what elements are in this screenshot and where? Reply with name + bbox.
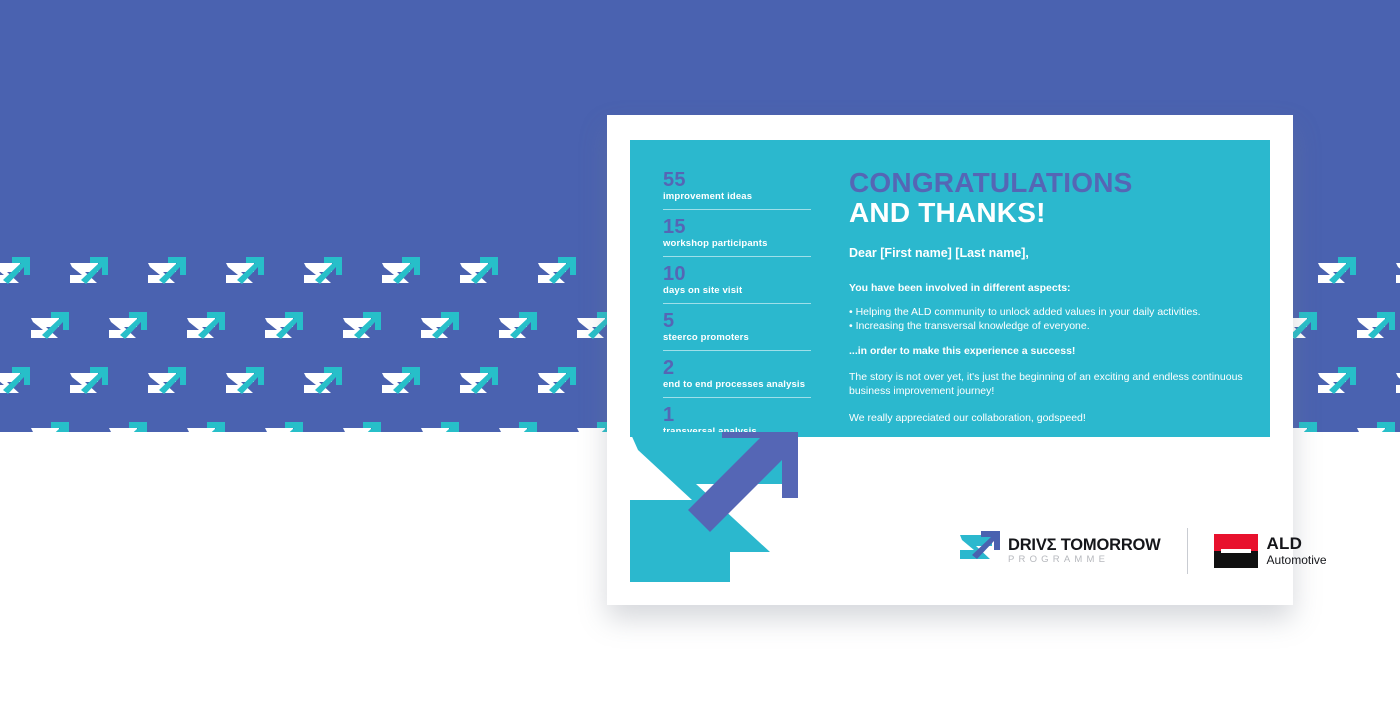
- sigma-arrow-icon: [224, 365, 270, 411]
- list-item: Helping the ALD community to unlock adde…: [849, 305, 1246, 319]
- sigma-arrow-icon: [458, 255, 504, 301]
- drive-tomorrow-wordmark: DRIVΣ TOMORROW PROGRAMME: [1008, 536, 1161, 566]
- sigma-arrow-icon: [224, 255, 270, 301]
- sigma-arrow-icon: [29, 310, 75, 356]
- sigma-arrow-icon: [419, 310, 465, 356]
- logo-row: DRIVΣ TOMORROW PROGRAMME ALD Automotive: [958, 528, 1327, 574]
- salutation-text: Dear [First name] [Last name],: [849, 246, 1246, 260]
- page-title: CONGRATULATIONS AND THANKS!: [849, 168, 1246, 228]
- stat-label: workshop participants: [663, 237, 811, 256]
- sigma-arrow-icon: [263, 420, 309, 432]
- sigma-arrow-icon: [341, 310, 387, 356]
- sigma-arrow-icon: [0, 255, 36, 301]
- logo-divider: [1187, 528, 1188, 574]
- teal-content-panel: 55improvement ideas15workshop participan…: [630, 140, 1270, 437]
- sigma-arrow-icon: [185, 420, 231, 432]
- stat-value: 10: [663, 264, 811, 284]
- slide-canvas: 55improvement ideas15workshop participan…: [0, 0, 1400, 707]
- sigma-arrow-icon: [107, 310, 153, 356]
- sigma-arrow-icon: [958, 529, 1002, 574]
- sigma-arrow-icon: [146, 255, 192, 301]
- sigma-arrow-icon: [1394, 365, 1400, 411]
- stat-label: days on site visit: [663, 284, 811, 303]
- sigma-arrow-icon: [0, 365, 36, 411]
- ald-square-icon: [1214, 534, 1258, 568]
- ald-wordmark: ALD Automotive: [1267, 535, 1327, 567]
- headline-line-1: CONGRATULATIONS: [849, 168, 1246, 198]
- ald-name: ALD: [1267, 535, 1327, 553]
- sigma-arrow-icon: [68, 255, 114, 301]
- lead-text: You have been involved in different aspe…: [849, 282, 1246, 294]
- sigma-arrow-icon: [536, 365, 582, 411]
- ald-automotive-logo: ALD Automotive: [1214, 534, 1327, 568]
- sigma-arrow-icon: [497, 310, 543, 356]
- stat-divider: [663, 303, 811, 304]
- stat-value: 15: [663, 217, 811, 237]
- sigma-arrow-icon: [536, 255, 582, 301]
- sigma-arrow-icon: [1355, 420, 1400, 432]
- headline-line-2: AND THANKS!: [849, 198, 1246, 228]
- stat-item: 55improvement ideas: [663, 170, 811, 210]
- emphasis-text: ...in order to make this experience a su…: [849, 345, 1246, 357]
- sigma-arrow-icon: [419, 420, 465, 432]
- list-item: Increasing the transversal knowledge of …: [849, 319, 1246, 333]
- stat-divider: [663, 397, 811, 398]
- stats-list: 55improvement ideas15workshop participan…: [663, 170, 811, 437]
- sigma-arrow-icon: [146, 365, 192, 411]
- stat-label: end to end processes analysis: [663, 378, 811, 397]
- sigma-arrow-icon: [29, 420, 75, 432]
- stat-item: 10days on site visit: [663, 264, 811, 304]
- stat-label: steerco promoters: [663, 331, 811, 350]
- stat-divider: [663, 350, 811, 351]
- sigma-arrow-icon: [497, 420, 543, 432]
- sigma-arrow-icon: [380, 365, 426, 411]
- sigma-arrow-icon: [185, 310, 231, 356]
- ald-subtitle: Automotive: [1267, 553, 1327, 567]
- sigma-arrow-icon: [1316, 365, 1362, 411]
- stat-item: 5steerco promoters: [663, 311, 811, 351]
- stat-value: 2: [663, 358, 811, 378]
- paragraph-one: The story is not over yet, it's just the…: [849, 370, 1246, 398]
- sigma-arrow-icon: [107, 420, 153, 432]
- stat-item: 15workshop participants: [663, 217, 811, 257]
- stat-divider: [663, 209, 811, 210]
- sigma-arrow-icon: [68, 365, 114, 411]
- sigma-arrow-icon: [630, 432, 805, 582]
- aspects-bullet-list: Helping the ALD community to unlock adde…: [849, 305, 1246, 333]
- stat-item: 2end to end processes analysis: [663, 358, 811, 398]
- sigma-arrow-icon: [458, 365, 504, 411]
- message-block: CONGRATULATIONS AND THANKS! Dear [First …: [849, 168, 1246, 425]
- stat-value: 1: [663, 405, 811, 425]
- sigma-arrow-icon: [341, 420, 387, 432]
- stat-label: improvement ideas: [663, 190, 811, 209]
- stat-value: 5: [663, 311, 811, 331]
- sigma-arrow-icon: [302, 365, 348, 411]
- drive-tomorrow-subtitle: PROGRAMME: [1008, 554, 1161, 566]
- drive-tomorrow-logo: DRIVΣ TOMORROW PROGRAMME: [958, 529, 1161, 574]
- sigma-arrow-icon: [380, 255, 426, 301]
- paragraph-two: We really appreciated our collaboration,…: [849, 411, 1246, 425]
- drive-tomorrow-title: DRIVΣ TOMORROW: [1008, 536, 1161, 554]
- sigma-arrow-icon: [302, 255, 348, 301]
- sigma-arrow-icon: [263, 310, 309, 356]
- sigma-arrow-icon: [1394, 255, 1400, 301]
- sigma-arrow-icon: [1355, 310, 1400, 356]
- stat-divider: [663, 256, 811, 257]
- sigma-arrow-icon: [1316, 255, 1362, 301]
- stat-value: 55: [663, 170, 811, 190]
